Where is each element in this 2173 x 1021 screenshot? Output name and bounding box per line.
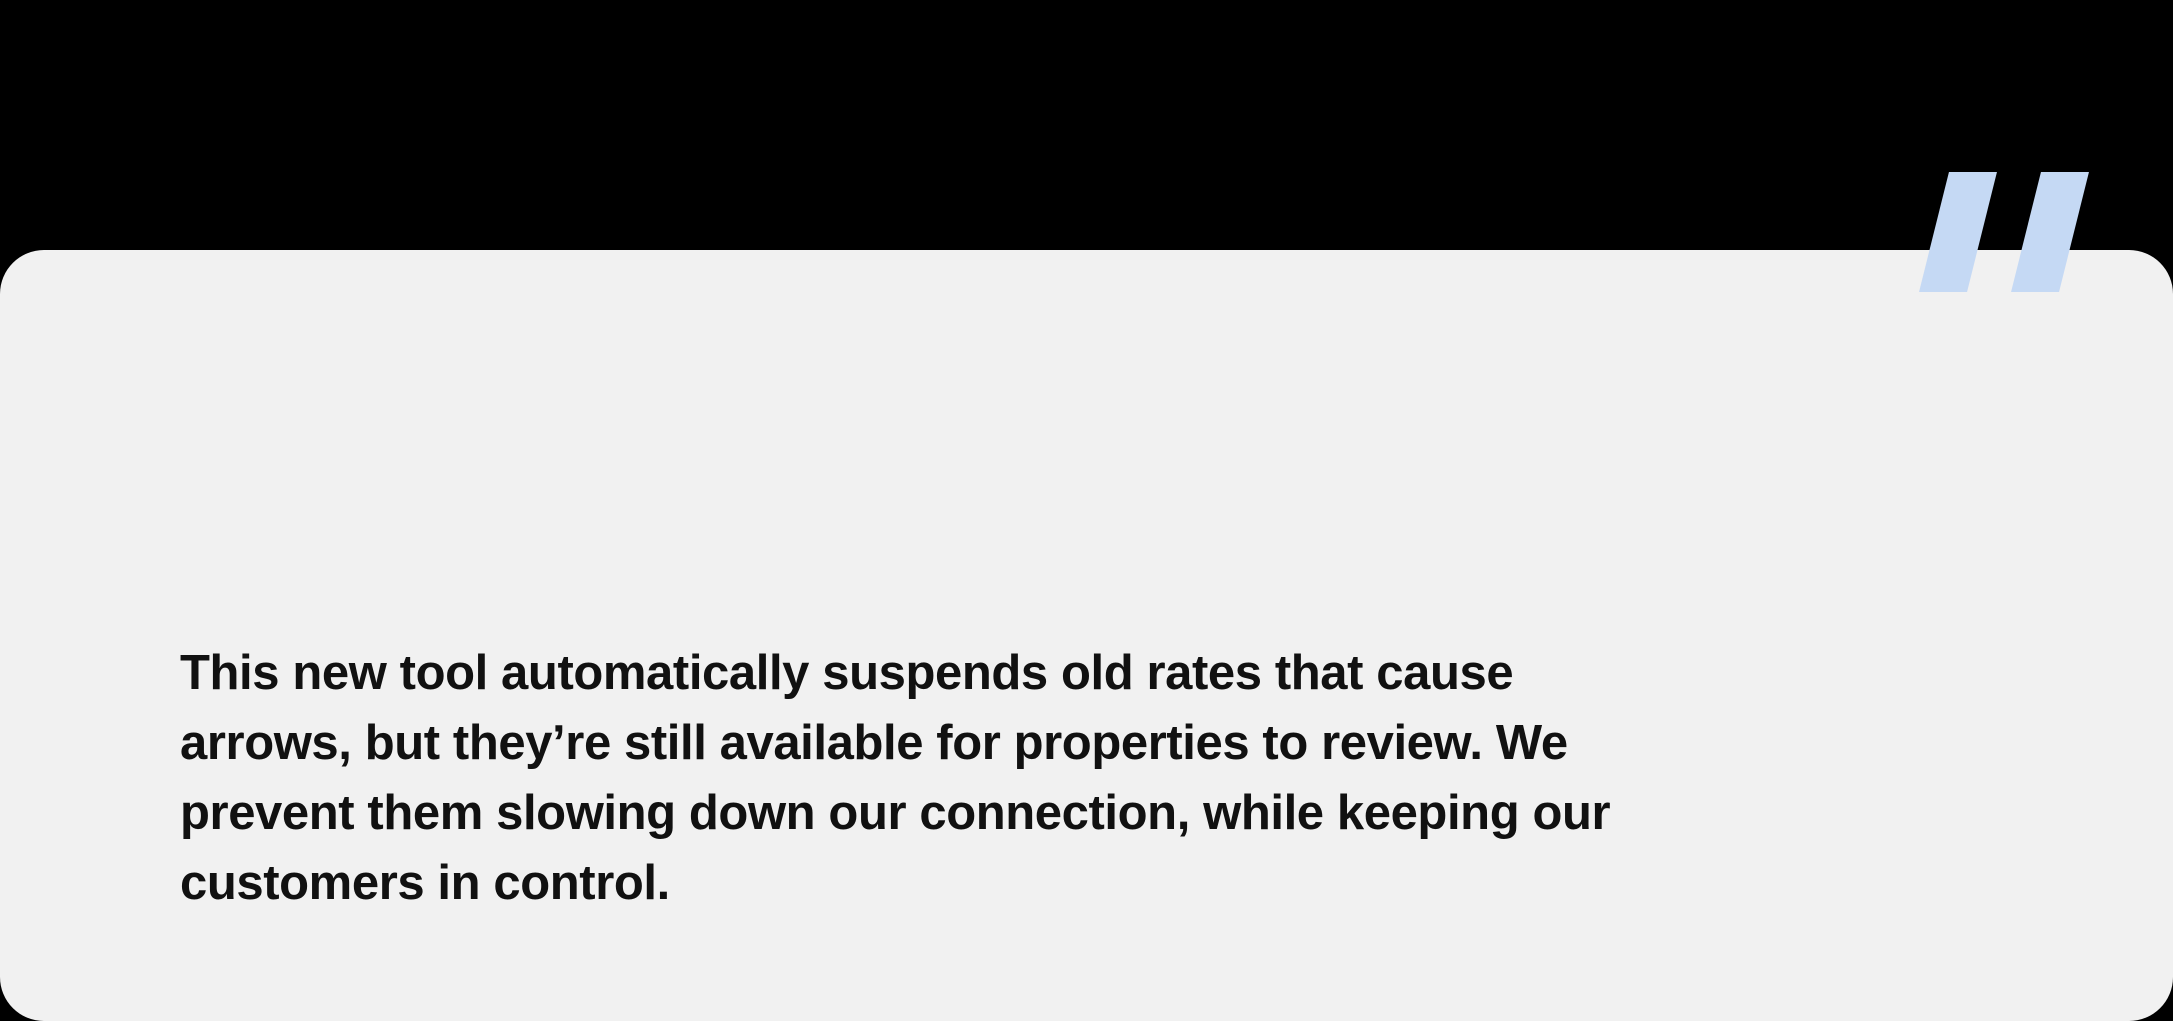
testimonial-slide: This new tool automatically suspends old… bbox=[0, 0, 2173, 1021]
quote-line: arrows, but they’re still available for … bbox=[180, 708, 2000, 778]
quote-line: prevent them slowing down our connection… bbox=[180, 778, 2000, 848]
quote-line: customers in control. bbox=[180, 848, 2000, 918]
testimonial-card: This new tool automatically suspends old… bbox=[0, 250, 2173, 1021]
quote-line: This new tool automatically suspends old… bbox=[180, 638, 2000, 708]
quote-text-block: This new tool automatically suspends old… bbox=[180, 638, 2000, 918]
